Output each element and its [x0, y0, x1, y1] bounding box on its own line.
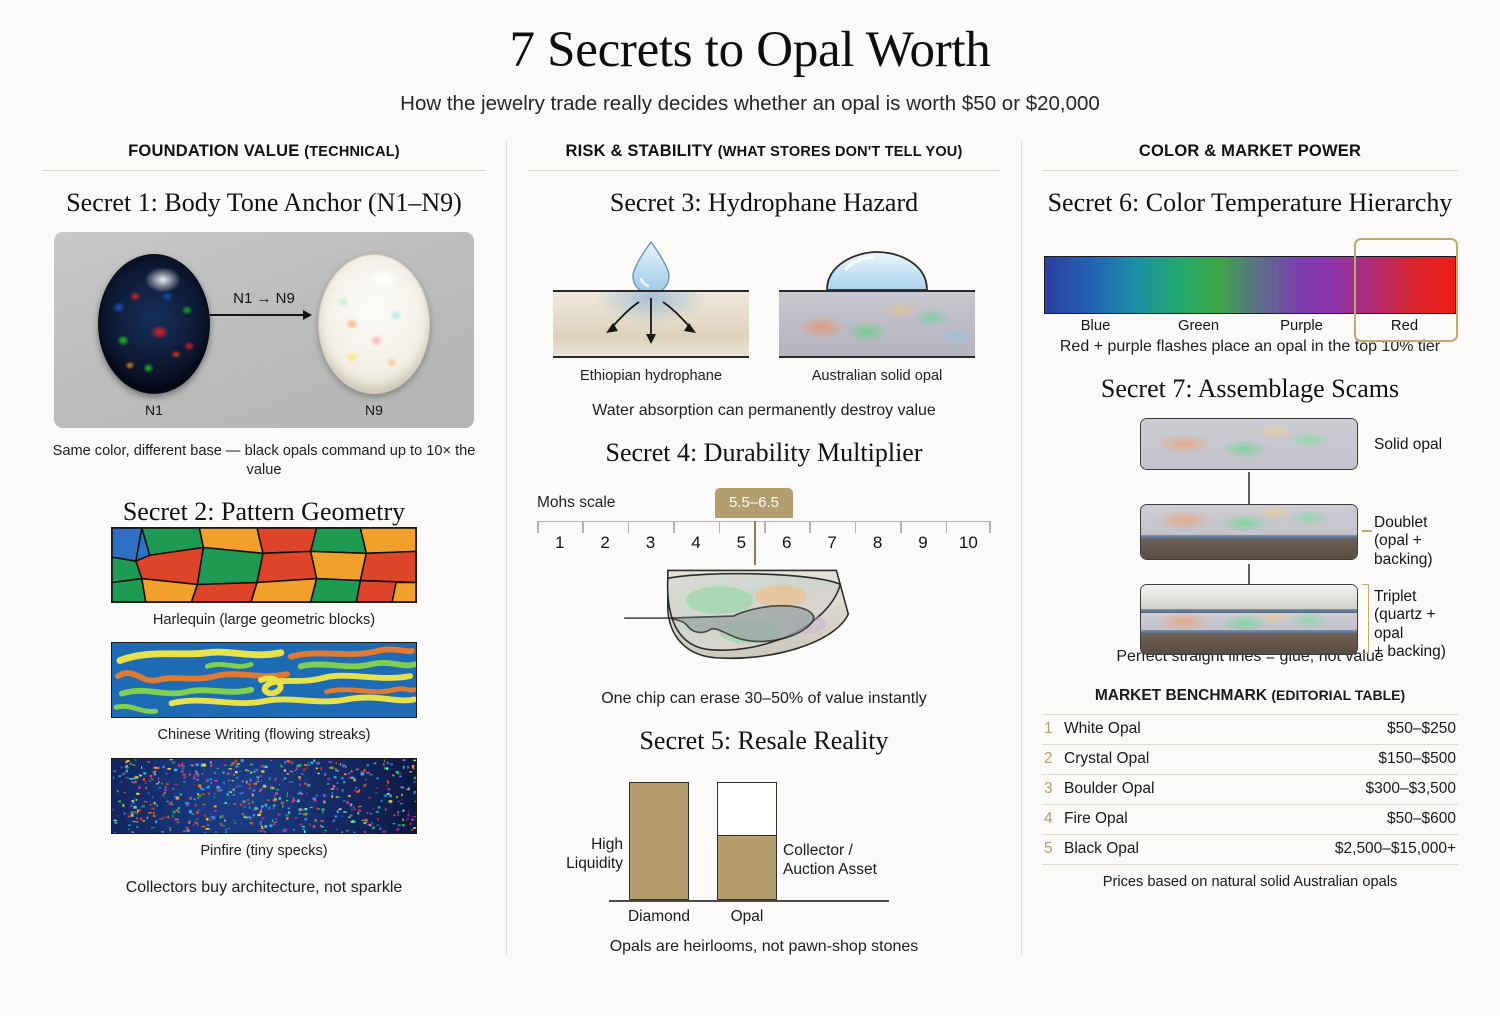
connector-line: [1248, 472, 1250, 504]
pattern-caption-harlequin: Harlequin (large geometric blocks): [36, 611, 492, 630]
arrow-right-icon: [204, 310, 324, 320]
pattern-swatch-harlequin: [111, 527, 417, 603]
tone-arrow-group: N1 → N9: [204, 290, 324, 320]
spectrum-labels: Blue Green Purple Red: [1044, 318, 1456, 334]
slab-label-ethiopian: Ethiopian hydrophane: [553, 367, 749, 386]
section-heading-sub: (TECHNICAL): [304, 144, 400, 160]
section-heading-main: RISK & STABILITY: [565, 142, 712, 160]
black-opal-gem-image: [98, 254, 210, 394]
table-cell-price: $150–$500: [1232, 744, 1458, 774]
slab-box-solid: [1140, 418, 1358, 470]
mohs-tick: [719, 522, 721, 533]
table-cell-index: 2: [1042, 744, 1062, 774]
table-row: 3Boulder Opal$300–$3,500: [1042, 774, 1458, 804]
mohs-scale-label: Mohs scale: [537, 494, 615, 512]
assemblage-label-solid: Solid opal: [1374, 436, 1442, 455]
column-color-market-power: COLOR & MARKET POWER Secret 6: Color Tem…: [1021, 142, 1478, 954]
absorption-arrows-icon: [553, 292, 749, 360]
column-foundation-value: FOUNDATION VALUE (TECHNICAL) Secret 1: B…: [22, 142, 506, 954]
spectrum-label-blue: Blue: [1044, 318, 1147, 334]
mohs-tick-label: 10: [946, 533, 991, 553]
secret-6-title: Secret 6: Color Temperature Hierarchy: [1036, 188, 1464, 218]
pattern-swatch-pinfire: [111, 758, 417, 834]
table-row: 2Crystal Opal$150–$500: [1042, 744, 1458, 774]
section-heading-main: FOUNDATION VALUE: [128, 142, 299, 160]
section-divider: [527, 170, 1001, 171]
section-divider: [1042, 170, 1458, 171]
mohs-tick-label: 7: [809, 533, 854, 553]
mohs-tick-labels: 1 2 3 4 5 6 7 8 9 10: [537, 533, 991, 553]
table-cell-name: Black Opal: [1062, 834, 1232, 864]
assemblage-triplet: [1140, 584, 1358, 655]
mohs-tick-label: 6: [764, 533, 809, 553]
table-cell-name: Crystal Opal: [1062, 744, 1232, 774]
section-heading-foundation: FOUNDATION VALUE (TECHNICAL): [36, 142, 492, 161]
bar-diamond: [629, 782, 689, 900]
table-cell-name: White Opal: [1062, 714, 1232, 744]
mohs-scale-chart: Mohs scale 5.5–6.5 1 2 3 4 5: [529, 488, 999, 564]
secret-4-title: Secret 4: Durability Multiplier: [521, 438, 1007, 468]
secret-1-caption: Same color, different base — black opals…: [36, 442, 492, 481]
table-cell-index: 4: [1042, 804, 1062, 834]
bracket-doublet: [1362, 530, 1372, 532]
tone-arrow-label: N1 → N9: [204, 290, 324, 307]
secret-7-title: Secret 7: Assemblage Scams: [1036, 374, 1464, 404]
layer-opal: [1141, 613, 1357, 630]
page-subtitle: How the jewelry trade really decides whe…: [0, 92, 1500, 116]
mohs-tick-label: 2: [582, 533, 627, 553]
secret-4-caption: One chip can erase 30–50% of value insta…: [521, 688, 1007, 709]
mohs-tick: [764, 522, 766, 533]
mohs-tick: [809, 522, 811, 533]
water-bead-icon: [779, 236, 975, 290]
assemblage-diagram: Solid opal Doublet(opal + backing): [1036, 418, 1464, 640]
secret-5-title: Secret 5: Resale Reality: [521, 726, 1007, 756]
layer-backing: [1141, 539, 1357, 559]
secret-5-caption: Opals are heirlooms, not pawn-shop stone…: [521, 936, 1007, 957]
secret-2-caption: Collectors buy architecture, not sparkle: [36, 877, 492, 898]
columns-container: FOUNDATION VALUE (TECHNICAL) Secret 1: B…: [0, 142, 1500, 954]
bar-chart-baseline: [609, 900, 889, 902]
table-row: 4Fire Opal$50–$600: [1042, 804, 1458, 834]
mohs-ruler-axis: [537, 521, 991, 533]
body-tone-comparison-panel: N1 N9 N1 → N9: [54, 232, 474, 428]
bar-opal: [717, 782, 777, 900]
assemblage-doublet: [1140, 504, 1358, 560]
spectrum-label-red: Red: [1353, 318, 1456, 334]
table-cell-price: $50–$250: [1232, 714, 1458, 744]
resale-bar-chart: Diamond Opal HighLiquidity Collector /Au…: [521, 772, 1007, 932]
slab-box-doublet: [1140, 504, 1358, 560]
section-heading-risk: RISK & STABILITY (WHAT STORES DON'T TELL…: [521, 142, 1007, 161]
slab-label-australian: Australian solid opal: [779, 367, 975, 386]
section-heading-main: COLOR & MARKET POWER: [1139, 142, 1361, 160]
annotation-collector-asset: Collector /Auction Asset: [783, 842, 903, 880]
table-row: 1White Opal$50–$250: [1042, 714, 1458, 744]
table-cell-name: Fire Opal: [1062, 804, 1232, 834]
secret-1-title: Secret 1: Body Tone Anchor (N1–N9): [36, 188, 492, 218]
assemblage-solid-opal: [1140, 418, 1358, 470]
hydrophane-comparison: Ethiopian hydrophane Australi: [521, 236, 1007, 386]
gem-label-n9: N9: [318, 402, 430, 418]
color-temperature-spectrum: Blue Green Purple Red: [1040, 234, 1460, 330]
spectrum-label-purple: Purple: [1250, 318, 1353, 334]
mohs-tick: [900, 522, 902, 533]
table-row: 5Black Opal$2,500–$15,000+: [1042, 834, 1458, 864]
chipped-opal-illustration: [521, 566, 1007, 686]
table-cell-index: 1: [1042, 714, 1062, 744]
layer-opal: [1141, 419, 1357, 469]
mohs-tick: [855, 522, 857, 533]
mohs-tick: [582, 522, 584, 533]
hydrophane-cell-ethiopian: Ethiopian hydrophane: [553, 236, 749, 386]
pattern-caption-pinfire: Pinfire (tiny specks): [36, 842, 492, 861]
column-risk-stability: RISK & STABILITY (WHAT STORES DON'T TELL…: [506, 142, 1021, 954]
mohs-tick: [989, 522, 991, 533]
slab-australian-solid-opal: [779, 290, 975, 358]
white-opal-gem-image: [318, 254, 430, 394]
pattern-caption-chinese-writing: Chinese Writing (flowing streaks): [36, 726, 492, 745]
slab-box-triplet: [1140, 584, 1358, 655]
table-cell-price: $50–$600: [1232, 804, 1458, 834]
mohs-tick-label: 3: [628, 533, 673, 553]
bar-opal-fill: [718, 835, 776, 899]
hydrophane-cell-australian: Australian solid opal: [779, 236, 975, 386]
layer-backing: [1141, 634, 1357, 654]
gem-label-n1: N1: [98, 402, 210, 418]
mohs-tick: [628, 522, 630, 533]
mohs-tick-label: 5: [719, 533, 764, 553]
section-heading-color: COLOR & MARKET POWER: [1036, 142, 1464, 161]
assemblage-label-triplet: Triplet(quartz + opal+ backing): [1374, 588, 1464, 662]
page-header: 7 Secrets to Opal Worth How the jewelry …: [0, 0, 1500, 116]
table-cell-index: 3: [1042, 774, 1062, 804]
mohs-tick-label: 4: [673, 533, 718, 553]
table-heading-sub: (EDITORIAL TABLE): [1271, 687, 1405, 703]
table-cell-index: 5: [1042, 834, 1062, 864]
section-heading-sub: (WHAT STORES DON'T TELL YOU): [718, 144, 963, 160]
table-cell-name: Boulder Opal: [1062, 774, 1232, 804]
bar-label-diamond: Diamond: [614, 908, 704, 926]
market-benchmark-heading: MARKET BENCHMARK (EDITORIAL TABLE): [1036, 687, 1464, 705]
pattern-swatch-chinese-writing: [111, 642, 417, 718]
mohs-hardness-badge: 5.5–6.5: [715, 488, 793, 518]
layer-quartz: [1141, 585, 1357, 609]
mohs-tick-label: 9: [900, 533, 945, 553]
market-benchmark-table: 1White Opal$50–$2502Crystal Opal$150–$50…: [1042, 714, 1458, 865]
bar-label-opal: Opal: [702, 908, 792, 926]
table-heading-main: MARKET BENCHMARK: [1095, 687, 1267, 704]
layer-opal: [1141, 505, 1357, 535]
slab-ethiopian-hydrophane: [553, 290, 749, 358]
assemblage-label-doublet: Doublet(opal + backing): [1374, 514, 1464, 570]
table-cell-price: $2,500–$15,000+: [1232, 834, 1458, 864]
mohs-pointer-line: [754, 521, 756, 565]
spectrum-label-green: Green: [1147, 318, 1250, 334]
page-title: 7 Secrets to Opal Worth: [0, 24, 1500, 78]
mohs-tick: [946, 522, 948, 533]
section-divider: [42, 170, 486, 171]
bracket-triplet: [1362, 584, 1369, 654]
table-cell-price: $300–$3,500: [1232, 774, 1458, 804]
secret-3-title: Secret 3: Hydrophane Hazard: [521, 188, 1007, 218]
market-benchmark-note: Prices based on natural solid Australian…: [1036, 874, 1464, 890]
annotation-high-liquidity: HighLiquidity: [531, 836, 623, 874]
secret-3-caption: Water absorption can permanently destroy…: [521, 400, 1007, 421]
mohs-tick: [673, 522, 675, 533]
mohs-tick: [537, 522, 539, 533]
mohs-tick-label: 8: [855, 533, 900, 553]
mohs-tick-label: 1: [537, 533, 582, 553]
water-drop-falling-icon: [553, 236, 749, 290]
secret-2-title: Secret 2: Pattern Geometry: [36, 497, 492, 527]
